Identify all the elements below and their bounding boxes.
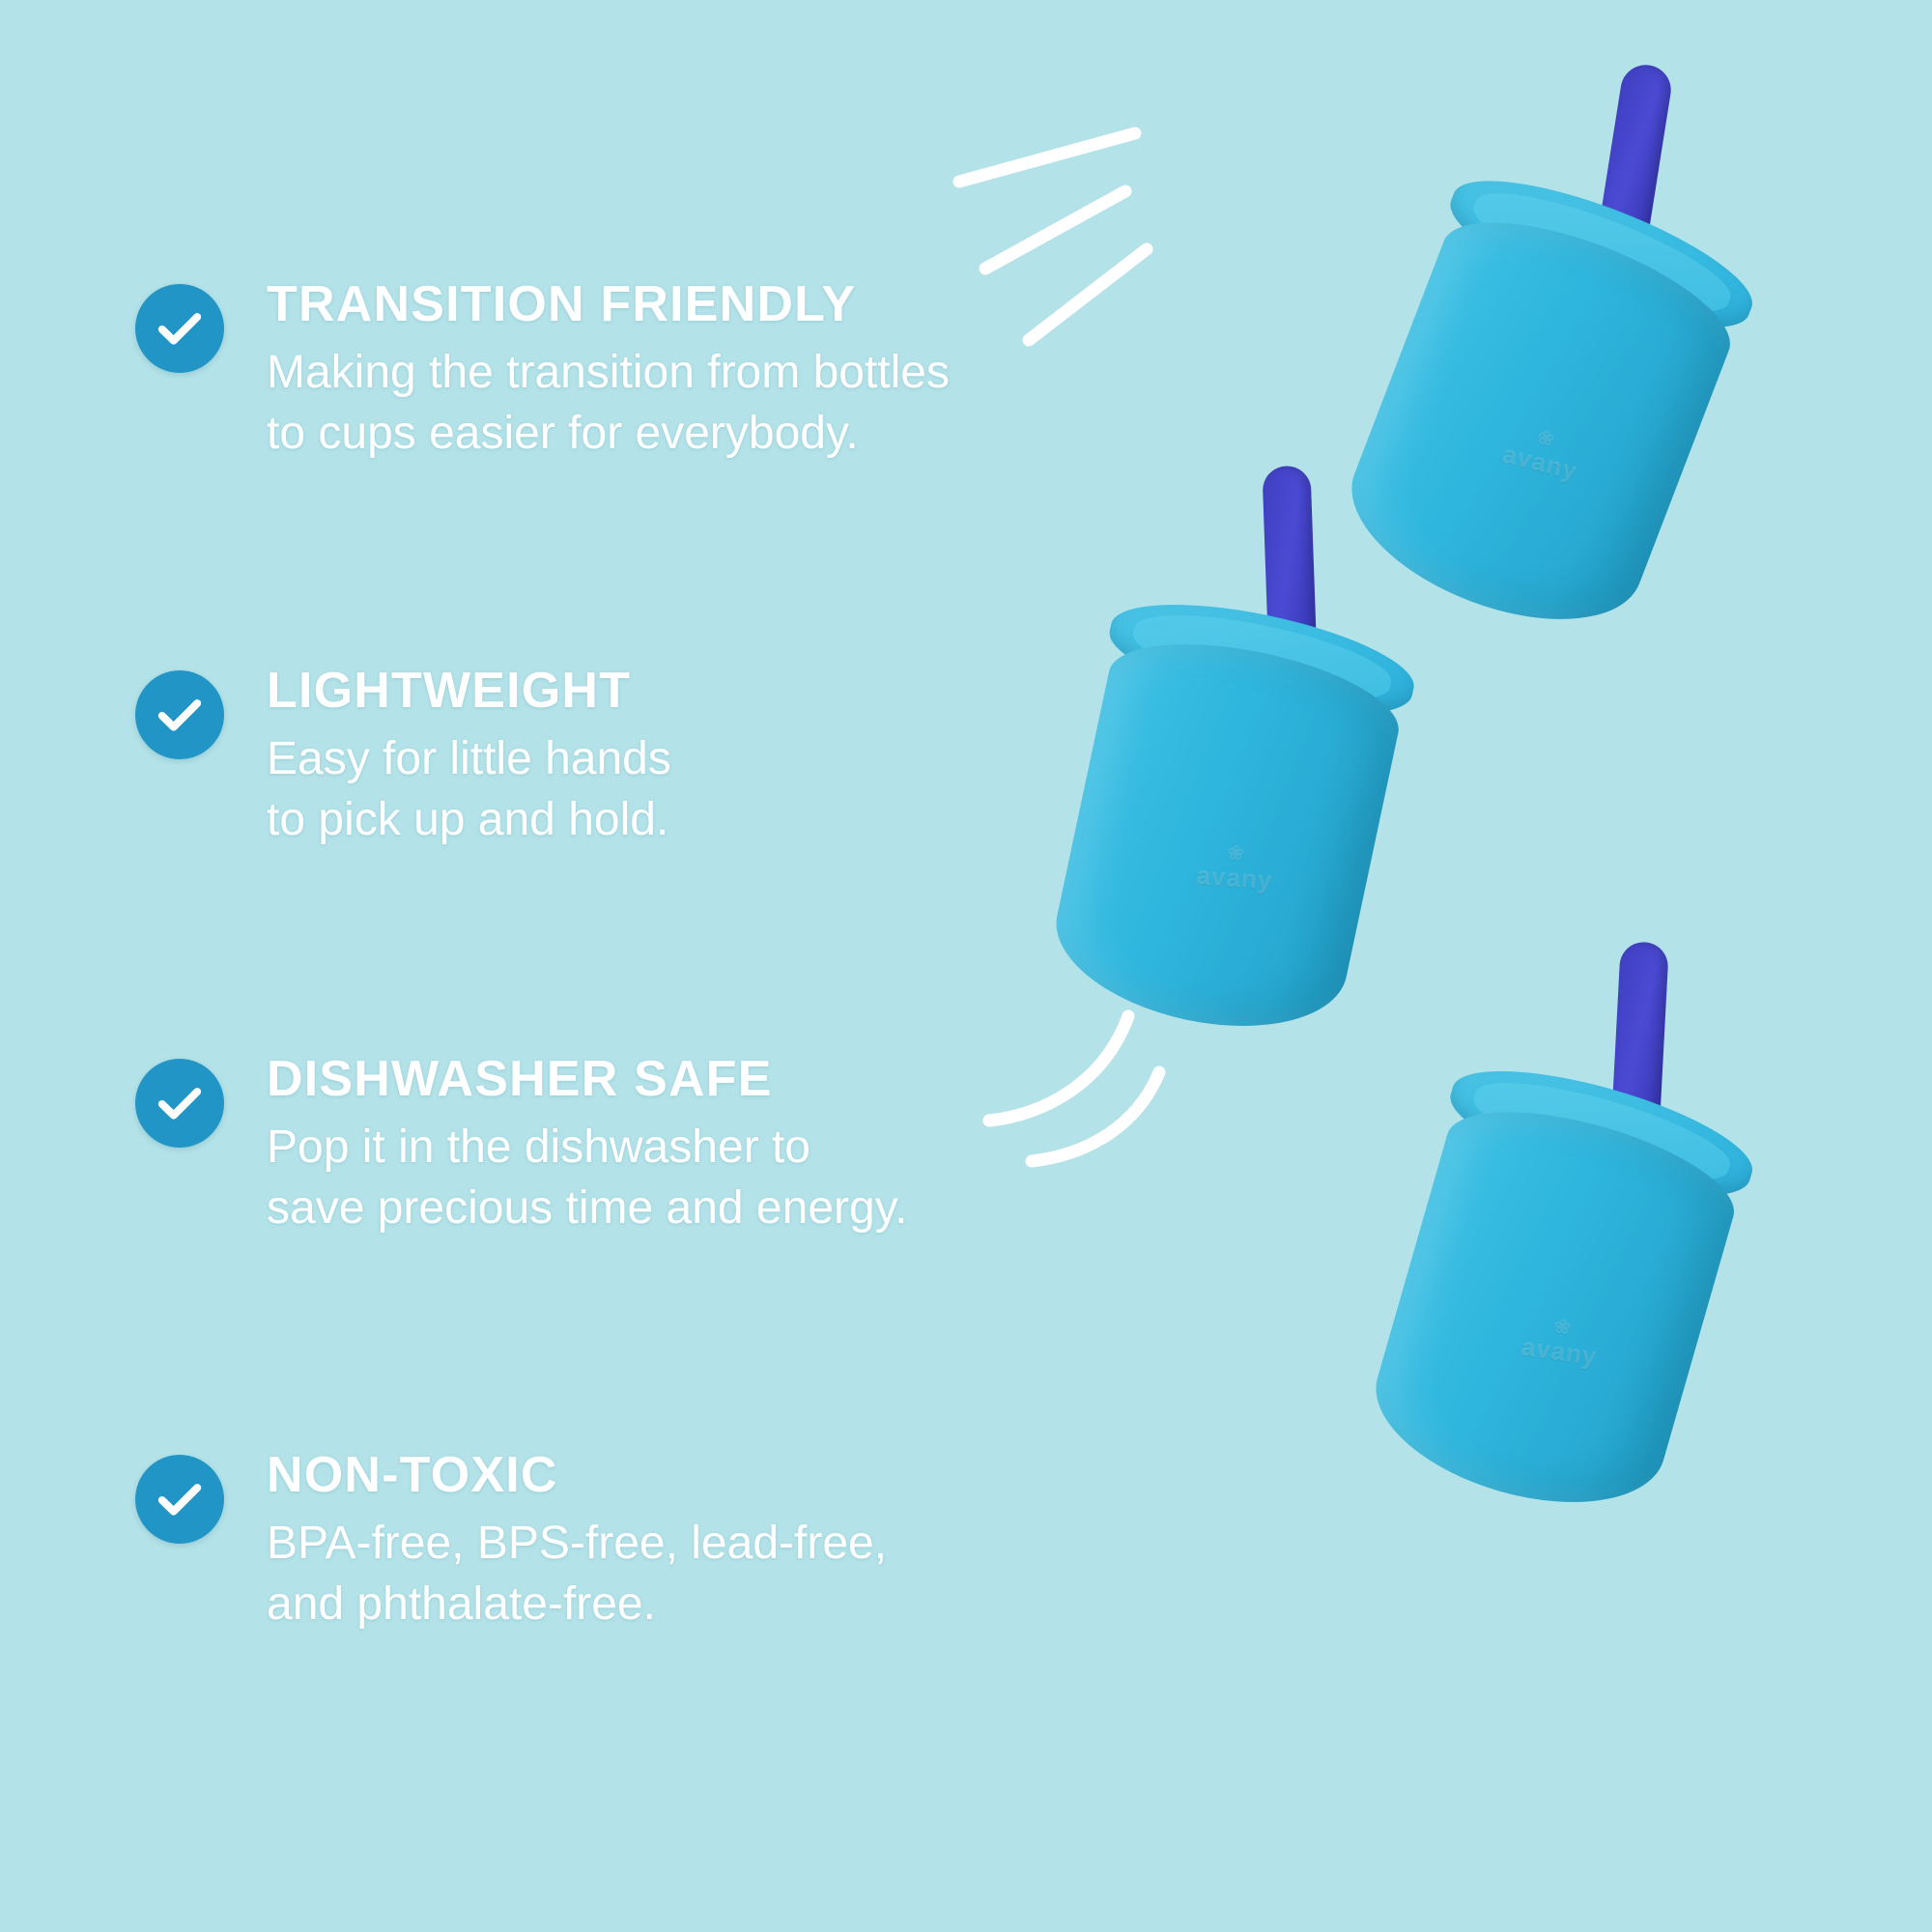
feature-item-transition-friendly: TRANSITION FRIENDLY Making the transitio… [135,278,950,464]
cup-body [1041,622,1408,1050]
cup-logo-emboss: ❀avany [1176,839,1294,896]
infographic-canvas: TRANSITION FRIENDLY Making the transitio… [0,0,1932,1932]
check-circle-icon [135,1059,224,1148]
feature-item-dishwasher-safe: DISHWASHER SAFE Pop it in the dishwasher… [135,1053,907,1238]
feature-title: LIGHTWEIGHT [267,665,671,718]
feature-title: NON-TOXIC [267,1449,887,1502]
feature-description: Easy for little hands to pick up and hol… [267,729,671,850]
feature-description: BPA-free, BPS-free, lead-free, and phtha… [267,1514,887,1634]
feature-description: Making the transition from bottles to cu… [267,343,950,464]
feature-text-block: DISHWASHER SAFE Pop it in the dishwasher… [267,1053,907,1238]
feature-title: TRANSITION FRIENDLY [267,278,950,331]
feature-text-block: LIGHTWEIGHT Easy for little hands to pic… [267,665,671,850]
feature-description: Pop it in the dishwasher to save preciou… [267,1118,907,1238]
motion-lines-rays [942,106,1290,396]
feature-text-block: NON-TOXIC BPA-free, BPS-free, lead-free,… [267,1449,887,1634]
feature-description-line: to cups easier for everybody. [267,404,950,464]
feature-item-lightweight: LIGHTWEIGHT Easy for little hands to pic… [135,665,671,850]
feature-title: DISHWASHER SAFE [267,1053,907,1106]
feature-list: TRANSITION FRIENDLY Making the transitio… [0,0,1082,1932]
feature-text-block: TRANSITION FRIENDLY Making the transitio… [267,278,950,464]
feature-description-line: to pick up and hold. [267,790,671,850]
feature-description-line: save precious time and energy. [267,1179,907,1238]
feature-description-line: Pop it in the dishwasher to [267,1118,907,1178]
feature-description-line: BPA-free, BPS-free, lead-free, [267,1514,887,1574]
check-circle-icon [135,670,224,759]
feature-description-line: and phthalate-free. [267,1575,887,1634]
feature-description-line: Easy for little hands [267,729,671,789]
feature-item-non-toxic: NON-TOXIC BPA-free, BPS-free, lead-free,… [135,1449,887,1634]
check-circle-icon [135,284,224,373]
check-circle-icon [135,1455,224,1544]
feature-description-line: Making the transition from bottles [267,343,950,403]
motion-lines-arcs [976,995,1227,1179]
